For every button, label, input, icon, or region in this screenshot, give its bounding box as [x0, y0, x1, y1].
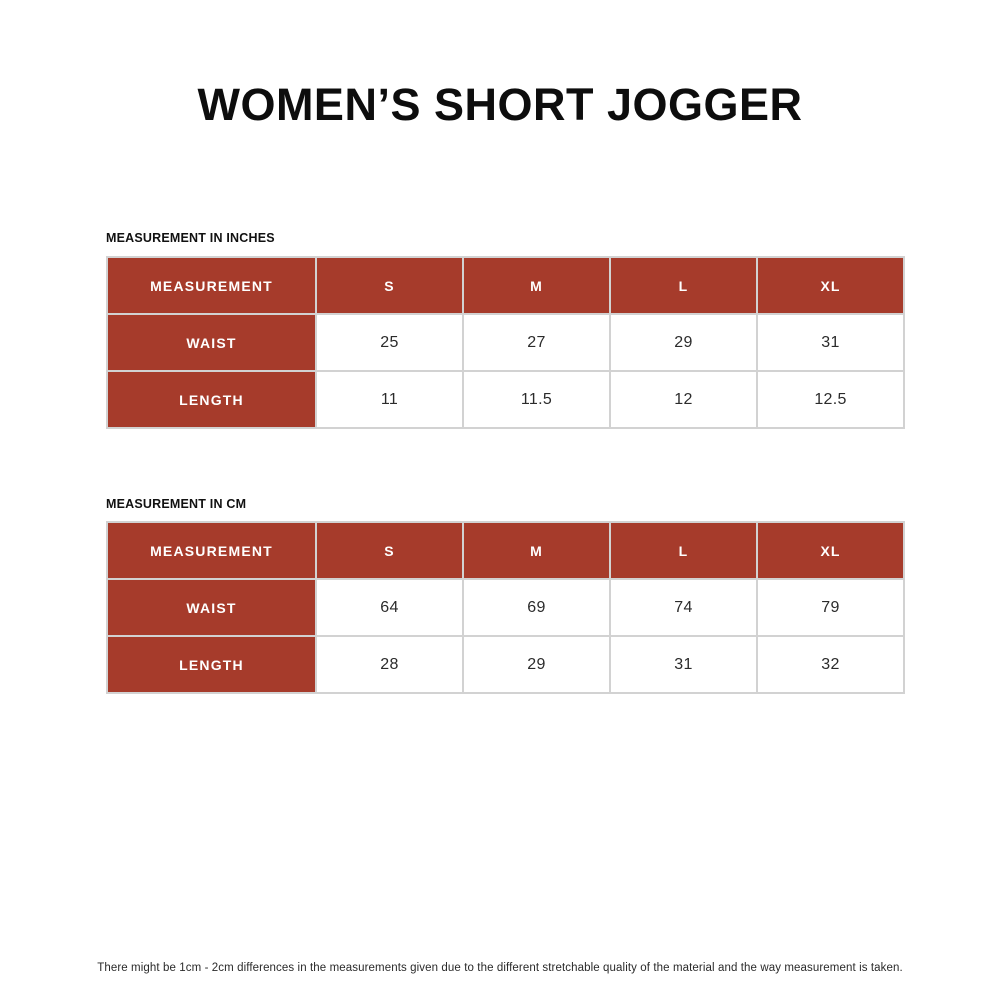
- section-label-inches: MEASUREMENT IN INCHES: [106, 231, 275, 245]
- table-row: WAIST 64 69 74 79: [108, 580, 903, 635]
- cell-waist-s: 25: [317, 315, 462, 370]
- row-label-waist: WAIST: [108, 580, 315, 635]
- cell-length-xl: 12.5: [758, 372, 903, 427]
- cell-waist-m: 69: [464, 580, 609, 635]
- cell-waist-m: 27: [464, 315, 609, 370]
- cell-waist-l: 29: [611, 315, 756, 370]
- column-header-measurement: MEASUREMENT: [108, 523, 315, 578]
- column-header-xl: XL: [758, 523, 903, 578]
- table-header-row: MEASUREMENT S M L XL: [108, 523, 903, 578]
- cell-length-xl: 32: [758, 637, 903, 692]
- cell-length-m: 29: [464, 637, 609, 692]
- cell-waist-xl: 31: [758, 315, 903, 370]
- table-row: LENGTH 28 29 31 32: [108, 637, 903, 692]
- cell-length-s: 28: [317, 637, 462, 692]
- column-header-m: M: [464, 523, 609, 578]
- cell-length-l: 31: [611, 637, 756, 692]
- size-chart-page: WOMEN’S SHORT JOGGER MEASUREMENT IN INCH…: [0, 0, 1000, 1000]
- row-label-length: LENGTH: [108, 637, 315, 692]
- footer-disclaimer: There might be 1cm - 2cm differences in …: [0, 962, 1000, 974]
- cell-waist-xl: 79: [758, 580, 903, 635]
- column-header-m: M: [464, 258, 609, 313]
- table-header-row: MEASUREMENT S M L XL: [108, 258, 903, 313]
- size-table-inches: MEASUREMENT S M L XL WAIST 25 27 29 31 L…: [106, 256, 905, 429]
- size-table-cm: MEASUREMENT S M L XL WAIST 64 69 74 79 L…: [106, 521, 905, 694]
- cell-length-s: 11: [317, 372, 462, 427]
- cell-length-m: 11.5: [464, 372, 609, 427]
- table-row: LENGTH 11 11.5 12 12.5: [108, 372, 903, 427]
- column-header-l: L: [611, 523, 756, 578]
- column-header-s: S: [317, 523, 462, 578]
- cell-waist-s: 64: [317, 580, 462, 635]
- column-header-measurement: MEASUREMENT: [108, 258, 315, 313]
- cell-waist-l: 74: [611, 580, 756, 635]
- page-title: WOMEN’S SHORT JOGGER: [0, 80, 1000, 130]
- column-header-l: L: [611, 258, 756, 313]
- column-header-s: S: [317, 258, 462, 313]
- table-row: WAIST 25 27 29 31: [108, 315, 903, 370]
- row-label-waist: WAIST: [108, 315, 315, 370]
- row-label-length: LENGTH: [108, 372, 315, 427]
- column-header-xl: XL: [758, 258, 903, 313]
- section-label-cm: MEASUREMENT IN CM: [106, 497, 246, 511]
- cell-length-l: 12: [611, 372, 756, 427]
